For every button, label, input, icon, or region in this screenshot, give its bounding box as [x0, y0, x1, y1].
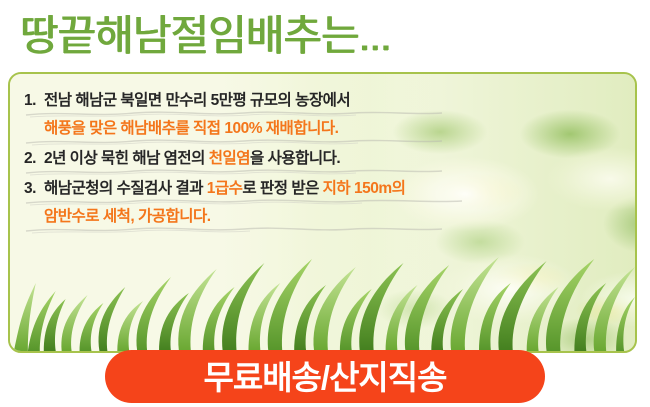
grass-illustration [10, 255, 635, 351]
list-item: 2.2년 이상 묵힌 해남 염전의 천일염을 사용합니다. [24, 146, 494, 176]
info-panel: 1.전남 해남군 북일면 만수리 5만평 규모의 농장에서 해풍을 맞은 해남배… [8, 72, 637, 353]
squiggle-underline-icon [24, 167, 494, 176]
list-item-text-prefix: 2년 이상 묵힌 해남 염전의 [44, 150, 209, 167]
list-item-text-prefix: 해남군청의 수질검사 결과 [44, 180, 207, 197]
feature-list: 1.전남 해남군 북일면 만수리 5만평 규모의 농장에서 해풍을 맞은 해남배… [24, 88, 494, 234]
list-item-text-suffix: 로 세척, 가공합니다. [85, 208, 210, 225]
list-item-text-suffix: 을 사용합니다. [250, 150, 340, 167]
free-shipping-cta-button[interactable]: 무료배송/산지직송 [105, 350, 545, 403]
list-item-text: 전남 해남군 북일면 만수리 5만평 규모의 농장에서 [44, 92, 350, 109]
list-item-text-highlight: 암반수 [44, 208, 85, 225]
squiggle-underline-icon [24, 225, 494, 234]
list-item: 3.해남군청의 수질검사 결과 1급수로 판정 받은 지하 150m의 암반수로… [24, 176, 494, 234]
squiggle-underline-icon [24, 137, 494, 146]
list-item-text-mid: 로 판정 받은 [242, 180, 322, 197]
list-item-text-highlight-a: 1급수 [207, 180, 243, 197]
list-item: 1.전남 해남군 북일면 만수리 5만평 규모의 농장에서 해풍을 맞은 해남배… [24, 88, 494, 146]
list-item-text-highlight-b: 지하 150m의 [323, 180, 406, 197]
list-item-text-highlight: 천일염 [209, 150, 250, 167]
page-title: 땅끝해남절임배추는... [20, 8, 391, 64]
